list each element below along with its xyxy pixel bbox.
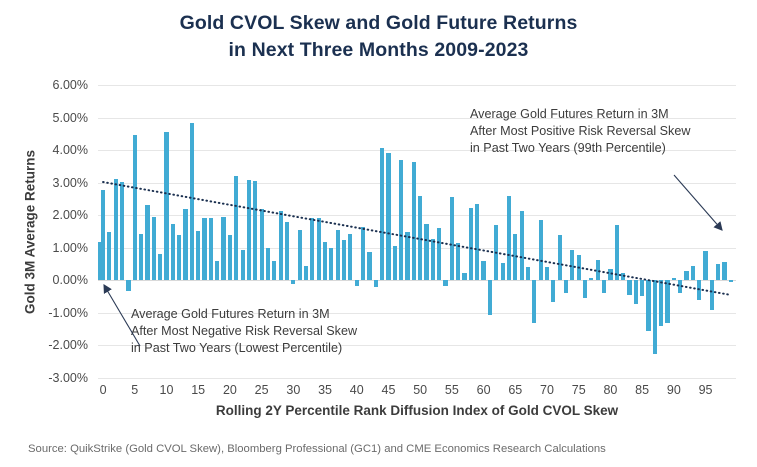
x-axis-tick-label: 35 — [318, 383, 332, 397]
x-axis-tick-label: 20 — [223, 383, 237, 397]
annotation-positive-line-3: in Past Two Years (99th Percentile) — [470, 140, 690, 157]
x-axis-tick-label: 10 — [160, 383, 174, 397]
x-axis-tick-label: 25 — [255, 383, 269, 397]
trendline-path — [103, 182, 731, 295]
gridline — [98, 378, 736, 379]
x-axis-tick-label: 70 — [540, 383, 554, 397]
x-axis-tick-label: 65 — [508, 383, 522, 397]
annotation-positive-skew: Average Gold Futures Return in 3M After … — [470, 106, 690, 157]
x-axis-tick-label: 5 — [131, 383, 138, 397]
x-axis-tick-label: 50 — [413, 383, 427, 397]
page-title: Gold CVOL Skew and Gold Future Returns i… — [0, 10, 757, 64]
y-axis-tick-label: -2.00% — [18, 338, 88, 352]
x-axis-tick-label: 90 — [667, 383, 681, 397]
source-note: Source: QuikStrike (Gold CVOL Skew), Blo… — [28, 443, 606, 455]
annotation-negative-line-3: in Past Two Years (Lowest Percentile) — [131, 340, 357, 357]
y-axis-tick-label: 5.00% — [18, 111, 88, 125]
annotation-negative-skew: Average Gold Futures Return in 3M After … — [131, 306, 357, 357]
x-axis-tick-label: 15 — [191, 383, 205, 397]
x-axis-tick-label: 0 — [100, 383, 107, 397]
x-axis-tick-label: 60 — [477, 383, 491, 397]
y-axis-label: Gold 3M Average Returns — [30, 85, 31, 378]
title-line-1: Gold CVOL Skew and Gold Future Returns — [0, 10, 757, 37]
x-axis-tick-label: 55 — [445, 383, 459, 397]
y-axis-tick-label: -1.00% — [18, 306, 88, 320]
x-axis-tick-label: 95 — [699, 383, 713, 397]
annotation-positive-line-2: After Most Positive Risk Reversal Skew — [470, 123, 690, 140]
annotation-positive-line-1: Average Gold Futures Return in 3M — [470, 106, 690, 123]
y-axis-tick-label: 2.00% — [18, 208, 88, 222]
x-axis-tick-label: 80 — [603, 383, 617, 397]
x-axis-tick-label: 40 — [350, 383, 364, 397]
x-axis-label: Rolling 2Y Percentile Rank Diffusion Ind… — [98, 403, 736, 418]
chart-root: Gold CVOL Skew and Gold Future Returns i… — [0, 0, 757, 467]
x-axis-tick-label: 30 — [286, 383, 300, 397]
title-line-2: in Next Three Months 2009-2023 — [0, 37, 757, 64]
y-axis-tick-label: 3.00% — [18, 176, 88, 190]
y-axis-tick-label: 0.00% — [18, 273, 88, 287]
y-axis-tick-label: -3.00% — [18, 371, 88, 385]
x-axis-tick-label: 45 — [382, 383, 396, 397]
annotation-negative-line-1: Average Gold Futures Return in 3M — [131, 306, 357, 323]
x-axis-tick-label: 85 — [635, 383, 649, 397]
annotation-negative-line-2: After Most Negative Risk Reversal Skew — [131, 323, 357, 340]
y-axis-tick-label: 6.00% — [18, 78, 88, 92]
y-axis-tick-label: 4.00% — [18, 143, 88, 157]
y-axis-tick-label: 1.00% — [18, 241, 88, 255]
x-axis-tick-label: 75 — [572, 383, 586, 397]
